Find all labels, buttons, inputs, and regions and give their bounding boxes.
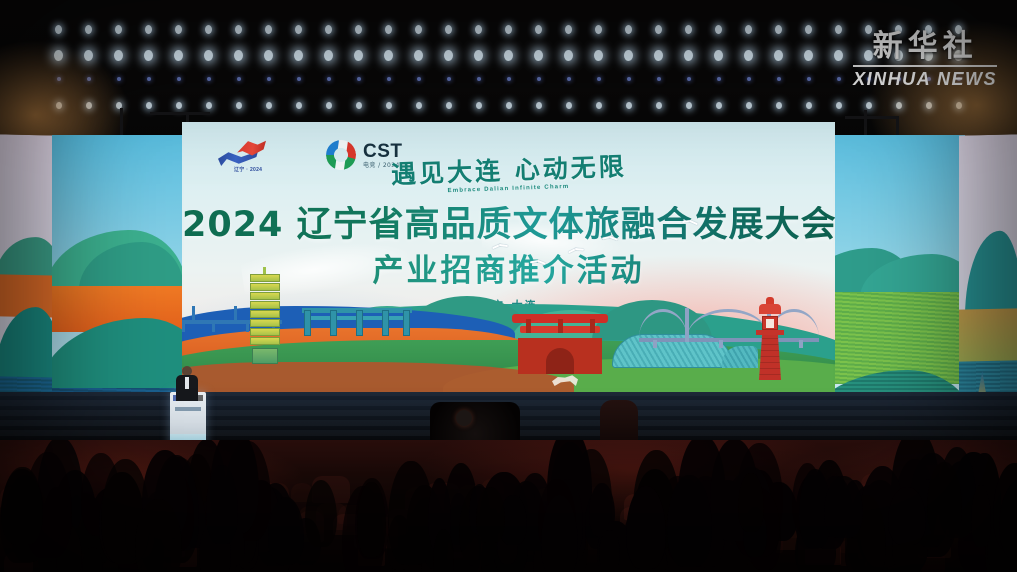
ceiling-lamp bbox=[74, 22, 104, 36]
ceiling-lamp bbox=[44, 72, 74, 86]
ceiling-lamp bbox=[224, 48, 254, 62]
ceiling-lamp bbox=[554, 48, 584, 62]
audience-head bbox=[357, 482, 385, 557]
ceiling-lamp bbox=[194, 72, 224, 86]
ceiling-lamp bbox=[44, 98, 74, 112]
ceiling-lamp bbox=[764, 72, 794, 86]
ceiling-lamp bbox=[284, 72, 314, 86]
ceiling-lamp bbox=[434, 22, 464, 36]
camera-lens bbox=[456, 410, 472, 426]
ceiling-lamp bbox=[524, 98, 554, 112]
screen-landscape-illustration bbox=[182, 267, 835, 392]
ceiling-lamp bbox=[704, 22, 734, 36]
ceiling-lamp bbox=[344, 98, 374, 112]
ceiling-lamp bbox=[674, 72, 704, 86]
ceiling-lamp bbox=[134, 48, 164, 62]
presenter-at-podium bbox=[176, 366, 198, 400]
podium-text-plate bbox=[175, 407, 201, 411]
ceiling-lamp bbox=[764, 48, 794, 62]
ceiling-lamp bbox=[104, 98, 134, 112]
ceiling-lamp bbox=[224, 98, 254, 112]
ceiling-lamp bbox=[344, 48, 374, 62]
watermark-english: XINHUA NEWS bbox=[853, 70, 997, 88]
ceiling-lamp bbox=[104, 48, 134, 62]
flying-crane-icon bbox=[602, 233, 619, 242]
ceiling-lamp bbox=[644, 22, 674, 36]
ceiling-lamp bbox=[824, 72, 854, 86]
ceiling-lamp bbox=[464, 48, 494, 62]
red-city-gate-icon bbox=[512, 314, 608, 374]
ceiling-lamp bbox=[464, 98, 494, 112]
ceiling-lamp bbox=[404, 22, 434, 36]
ceiling-lamp bbox=[704, 72, 734, 86]
far-left-wing bbox=[0, 134, 58, 435]
ceiling-lamp bbox=[74, 48, 104, 62]
ceiling-lamp bbox=[254, 48, 284, 62]
ceiling-lamp bbox=[494, 22, 524, 36]
ceiling-lamp bbox=[584, 48, 614, 62]
ceiling-lamp bbox=[674, 98, 704, 112]
truss-strut bbox=[845, 116, 897, 119]
ceiling-lamp bbox=[404, 72, 434, 86]
ceiling-lamp bbox=[584, 98, 614, 112]
audience-head bbox=[824, 476, 863, 538]
ceiling-lamp bbox=[374, 22, 404, 36]
ceiling-lamp bbox=[344, 72, 374, 86]
audience-head bbox=[206, 465, 238, 545]
xinhua-watermark: 新华社 XINHUA NEWS bbox=[853, 32, 997, 88]
lighthouse-icon bbox=[753, 304, 787, 380]
archway-gate-icon bbox=[302, 302, 412, 336]
ceiling-lamp bbox=[554, 98, 584, 112]
ceiling-lamp bbox=[764, 22, 794, 36]
ceiling-lamp bbox=[104, 22, 134, 36]
ceiling-lamp bbox=[44, 22, 74, 36]
ceiling-lamp bbox=[674, 22, 704, 36]
ceiling-lamp bbox=[494, 72, 524, 86]
ceiling-lamp bbox=[44, 48, 74, 62]
ceiling-lamp bbox=[494, 48, 524, 62]
ceiling-lamp bbox=[314, 98, 344, 112]
ceiling-lamp bbox=[944, 98, 974, 112]
ceiling-lamp bbox=[314, 22, 344, 36]
ceiling-lamp bbox=[494, 98, 524, 112]
ceiling-lamp bbox=[764, 98, 794, 112]
ceiling-lamp bbox=[164, 98, 194, 112]
ceiling-lamp bbox=[914, 98, 944, 112]
ceiling-lamp bbox=[674, 48, 704, 62]
ceiling-lamp bbox=[704, 48, 734, 62]
flying-crane-icon bbox=[638, 223, 655, 233]
ceiling-lamp bbox=[254, 72, 284, 86]
ceiling-lamp bbox=[134, 22, 164, 36]
audience-head bbox=[599, 530, 620, 571]
ceiling-lamp bbox=[464, 72, 494, 86]
audience-head bbox=[738, 473, 764, 532]
audience-head bbox=[626, 486, 665, 569]
ceiling-lamp bbox=[374, 48, 404, 62]
ceiling-lamp bbox=[824, 98, 854, 112]
ceiling-lamp bbox=[434, 98, 464, 112]
seated-audience bbox=[0, 440, 1017, 572]
conference-title-line-1: 2024 辽宁省高品质文体旅融合发展大会 bbox=[182, 206, 835, 245]
audience-head bbox=[888, 487, 926, 545]
ceiling-lamp bbox=[194, 22, 224, 36]
ceiling-lamp bbox=[254, 22, 284, 36]
ceiling-lamp bbox=[884, 98, 914, 112]
flying-crane-icon bbox=[530, 257, 547, 267]
ceiling-lamp bbox=[374, 98, 404, 112]
ceiling-lamp bbox=[824, 22, 854, 36]
ceiling-lamp bbox=[434, 48, 464, 62]
ceiling-lamp bbox=[524, 22, 554, 36]
ceiling-lamp bbox=[734, 98, 764, 112]
ceiling-lamp bbox=[584, 22, 614, 36]
ceiling-lamp bbox=[794, 72, 824, 86]
ceiling-lamp bbox=[584, 72, 614, 86]
ceiling-lamp bbox=[794, 98, 824, 112]
ceiling-lamp bbox=[554, 72, 584, 86]
ceiling-lamp bbox=[164, 48, 194, 62]
ceiling-lamp bbox=[254, 98, 284, 112]
far-right-wing bbox=[959, 134, 1017, 435]
suspension-bridge-icon bbox=[639, 298, 819, 348]
main-led-screen: 辽宁 · 2024 CST 电竞 / 2024 遇见大连 心动无限 Embrac… bbox=[182, 122, 835, 392]
ceiling-lamp bbox=[524, 48, 554, 62]
ceiling-lamp bbox=[404, 98, 434, 112]
ceiling-lamp bbox=[524, 72, 554, 86]
truss-strut bbox=[150, 112, 210, 115]
watermark-rule bbox=[853, 65, 997, 67]
ceiling-lamp bbox=[794, 48, 824, 62]
ceiling-lamp bbox=[704, 98, 734, 112]
audience-head bbox=[927, 462, 962, 540]
ceiling-lamp bbox=[854, 98, 884, 112]
ceiling-lamp bbox=[224, 22, 254, 36]
ceiling-lamp bbox=[74, 98, 104, 112]
ceiling-lamp bbox=[374, 72, 404, 86]
ceiling-lamp bbox=[644, 98, 674, 112]
audience-head bbox=[971, 485, 991, 547]
ceiling-lamp bbox=[314, 48, 344, 62]
audience-head bbox=[388, 461, 433, 565]
ceiling-lamp bbox=[194, 48, 224, 62]
pagoda-icon bbox=[250, 274, 280, 364]
ceiling-lamp bbox=[614, 98, 644, 112]
ceiling-lamp bbox=[134, 72, 164, 86]
ceiling-lamp bbox=[404, 48, 434, 62]
watermark-chinese: 新华社 bbox=[853, 32, 997, 62]
ceiling-lamp bbox=[134, 98, 164, 112]
ceiling-lamp bbox=[284, 22, 314, 36]
ceiling-lamp bbox=[164, 22, 194, 36]
ceiling-lamp bbox=[284, 48, 314, 62]
ceiling-lamp bbox=[734, 22, 764, 36]
ceiling-lamp bbox=[464, 22, 494, 36]
ceiling-lamp bbox=[554, 22, 584, 36]
ceiling-lamp bbox=[614, 72, 644, 86]
ceiling-lamp bbox=[734, 48, 764, 62]
ceiling-lamp bbox=[104, 72, 134, 86]
ceiling-lamp bbox=[164, 72, 194, 86]
ceiling-lamp bbox=[344, 22, 374, 36]
ceiling-lamp bbox=[824, 48, 854, 62]
ceiling-lamp bbox=[74, 72, 104, 86]
ceiling-lamp bbox=[434, 72, 464, 86]
presenter-shirt bbox=[185, 377, 189, 389]
ceiling-lamp bbox=[284, 98, 314, 112]
ceiling-lamp bbox=[644, 48, 674, 62]
ceiling-lamp bbox=[734, 72, 764, 86]
ceiling-lamp bbox=[314, 72, 344, 86]
ceiling-lamp bbox=[794, 22, 824, 36]
conference-stage-photo: 新华社 XINHUA NEWS bbox=[0, 0, 1017, 572]
ceiling-lamp bbox=[614, 22, 644, 36]
ceiling-lamp bbox=[644, 72, 674, 86]
ceiling-lamp bbox=[224, 72, 254, 86]
ceiling-lamp bbox=[614, 48, 644, 62]
ceiling-lamp bbox=[194, 98, 224, 112]
